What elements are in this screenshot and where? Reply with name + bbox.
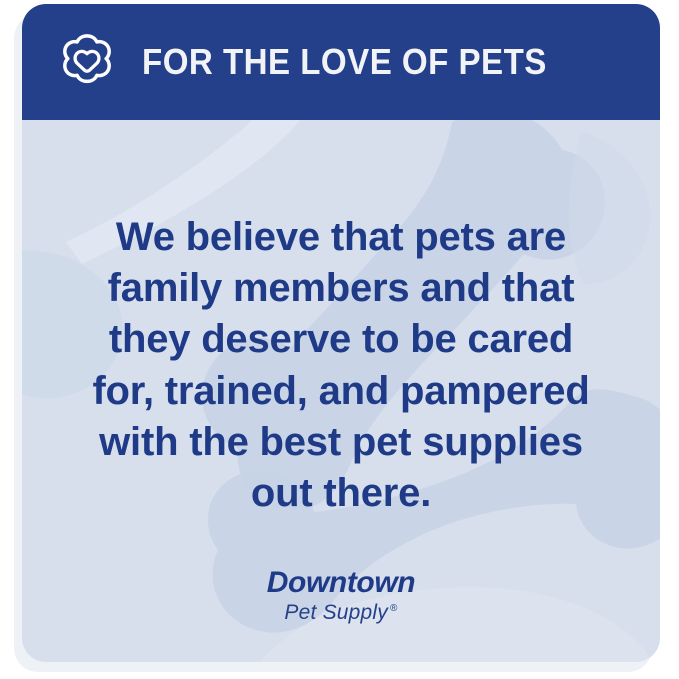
paw-heart-icon — [56, 31, 118, 93]
quote-line: out there. — [62, 468, 620, 519]
quote-line: for, trained, and pampered — [62, 366, 620, 417]
brand-name-primary: Downtown — [22, 567, 660, 599]
mission-statement: We believe that pets are family members … — [62, 212, 620, 519]
quote-line: We believe that pets are — [62, 212, 620, 263]
quote-line: they deserve to be cared — [62, 314, 620, 365]
brand-name-secondary-text: Pet Supply — [284, 601, 388, 624]
card-header: FOR THE LOVE OF PETS — [22, 4, 660, 120]
header-title: FOR THE LOVE OF PETS — [142, 44, 547, 80]
brand-name-secondary: Pet Supply® — [22, 600, 660, 626]
promo-card: FOR THE LOVE OF PETS We believe that pet… — [22, 4, 660, 662]
brand-logo: Downtown Pet Supply® — [22, 567, 660, 626]
quote-line: family members and that — [62, 263, 620, 314]
quote-line: with the best pet supplies — [62, 417, 620, 468]
registered-trademark-icon: ® — [390, 603, 398, 614]
promo-card-canvas: FOR THE LOVE OF PETS We believe that pet… — [0, 0, 679, 679]
